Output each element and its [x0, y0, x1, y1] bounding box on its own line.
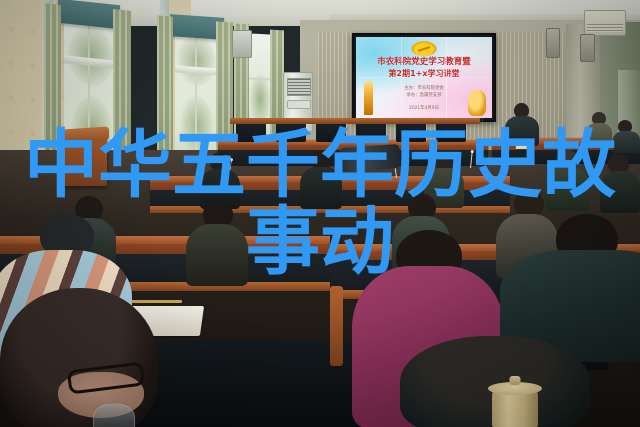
- body: [300, 167, 342, 209]
- seat-back: [436, 122, 466, 142]
- ac-grille: [287, 78, 311, 96]
- tea-thermos: [492, 389, 538, 427]
- ac-vent: [587, 24, 623, 32]
- gold-lion-ornament: [468, 90, 486, 116]
- seat-back: [316, 122, 346, 142]
- presenter-papers: [515, 143, 534, 149]
- party-emblem-icon: [411, 41, 437, 56]
- body: [613, 131, 640, 153]
- presenter-body: [505, 116, 539, 146]
- audience-member: [600, 154, 640, 212]
- chair-arm: [330, 286, 343, 366]
- ceiling-projector-icon: [232, 30, 252, 58]
- lectern: [63, 134, 107, 186]
- wall-mounted-ac-unit: [584, 10, 626, 36]
- window-foliage: [178, 35, 216, 88]
- audience-member: [613, 120, 640, 152]
- lectern-top: [61, 126, 109, 143]
- glass-cup: [93, 403, 135, 427]
- gold-pillar-ornament: [364, 81, 373, 115]
- seat-back: [236, 122, 266, 142]
- body: [186, 224, 248, 286]
- presentation-slide: 市农科院党史学习教育暨 第2期1+x学习讲堂 主办：市农科院党委 承办：直属党支…: [356, 37, 492, 118]
- seat-back: [396, 122, 426, 142]
- wall-speaker-icon: [546, 28, 560, 58]
- audience-member: [300, 150, 342, 208]
- screenshot-canvas: 市农科院党史学习教育暨 第2期1+x学习讲堂 主办：市农科院党委 承办：直属党支…: [0, 0, 640, 427]
- seat-back: [276, 122, 306, 142]
- audience-member: [186, 200, 248, 284]
- slide-title: 市农科院党史学习教育暨 第2期1+x学习讲堂: [362, 57, 486, 79]
- slide-title-line-2: 第2期1+x学习讲堂: [362, 68, 486, 79]
- ac-control-panel: [287, 100, 311, 109]
- rolled-material: [339, 144, 401, 172]
- projection-screen[interactable]: 市农科院党史学习教育暨 第2期1+x学习讲堂 主办：市农科院党委 承办：直属党支…: [352, 33, 496, 122]
- foreground-person-left: [0, 288, 180, 427]
- seat-back: [356, 122, 386, 142]
- seat-rail: [230, 118, 480, 124]
- slide-title-line-1: 市农科院党史学习教育暨: [362, 57, 486, 68]
- conference-room-photo: 市农科院党史学习教育暨 第2期1+x学习讲堂 主办：市农科院党委 承办：直属党支…: [0, 0, 640, 427]
- wall-speaker-icon: [580, 34, 595, 62]
- presenter: [505, 103, 539, 145]
- audience-member: [586, 112, 612, 146]
- window-foliage: [250, 73, 270, 124]
- window-foliage: [181, 95, 213, 155]
- thermos-knob: [510, 376, 521, 385]
- body: [600, 171, 640, 213]
- body: [586, 123, 612, 147]
